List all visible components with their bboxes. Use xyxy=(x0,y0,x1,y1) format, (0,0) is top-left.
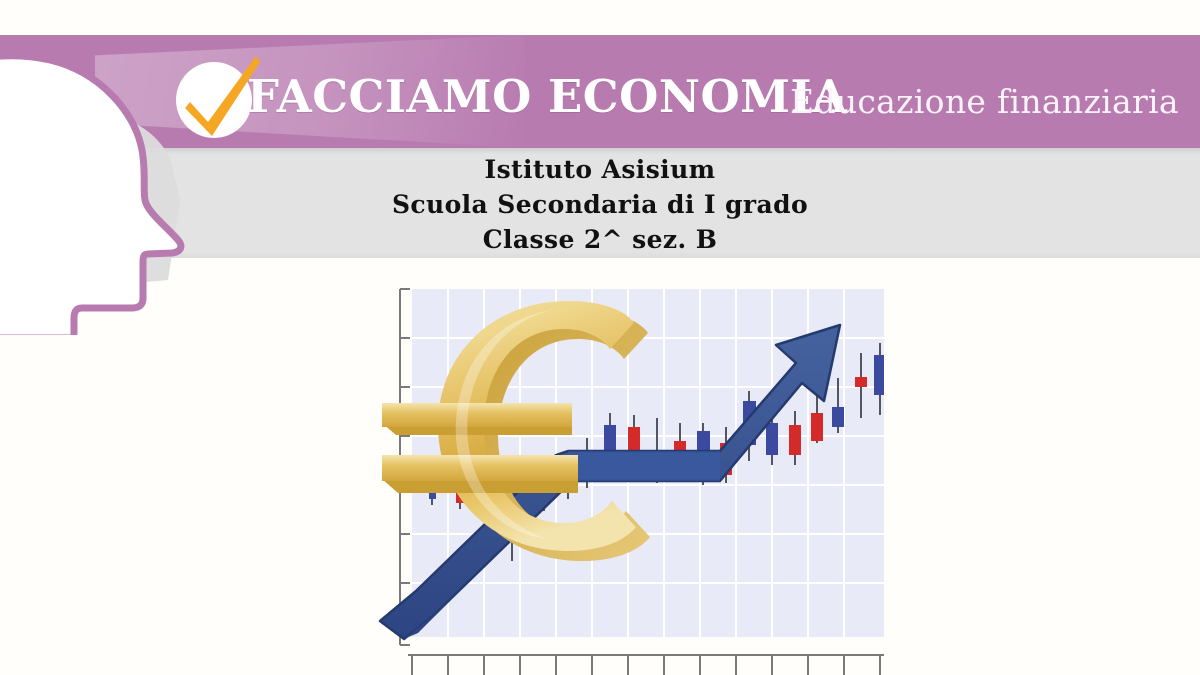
page-title: FACCIAMO ECONOMIA xyxy=(247,74,847,119)
page-subtitle: Educazione finanziaria xyxy=(790,85,1179,118)
chart-svg xyxy=(372,283,884,675)
logo-badge xyxy=(176,62,252,138)
x-axis xyxy=(408,655,884,675)
slide-root: FACCIAMO ECONOMIA Educazione finanziaria… xyxy=(0,0,1200,675)
school-info: Istituto Asisium Scuola Secondaria di I … xyxy=(0,152,1200,257)
school-name: Istituto Asisium xyxy=(0,152,1200,187)
school-class: Classe 2^ sez. B xyxy=(0,222,1200,257)
candlestick-chart xyxy=(372,283,884,675)
school-level: Scuola Secondaria di I grado xyxy=(0,187,1200,222)
